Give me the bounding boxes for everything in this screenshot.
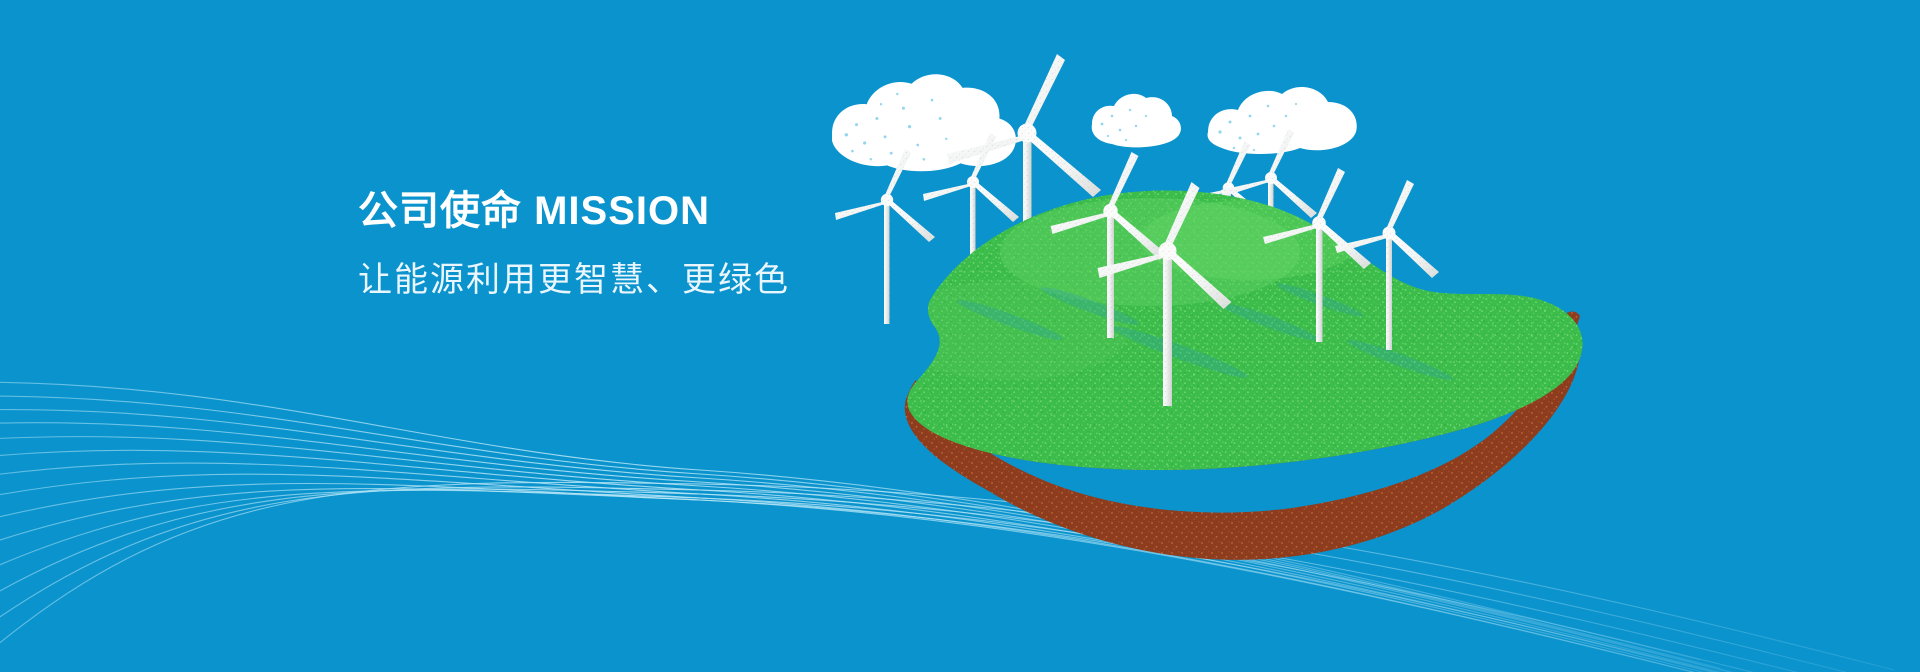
mission-banner: 公司使命 MISSION 让能源利用更智慧、更绿色 xyxy=(0,0,1920,672)
cloud-middle xyxy=(1092,94,1181,148)
page-title: 公司使命 MISSION xyxy=(358,188,978,234)
island-grass xyxy=(890,190,1583,470)
page-subtitle: 让能源利用更智慧、更绿色 xyxy=(358,260,978,301)
text-block: 公司使命 MISSION 让能源利用更智慧、更绿色 xyxy=(358,188,978,301)
cloud-left xyxy=(832,74,1016,171)
wind-farm-illustration xyxy=(0,0,1920,672)
